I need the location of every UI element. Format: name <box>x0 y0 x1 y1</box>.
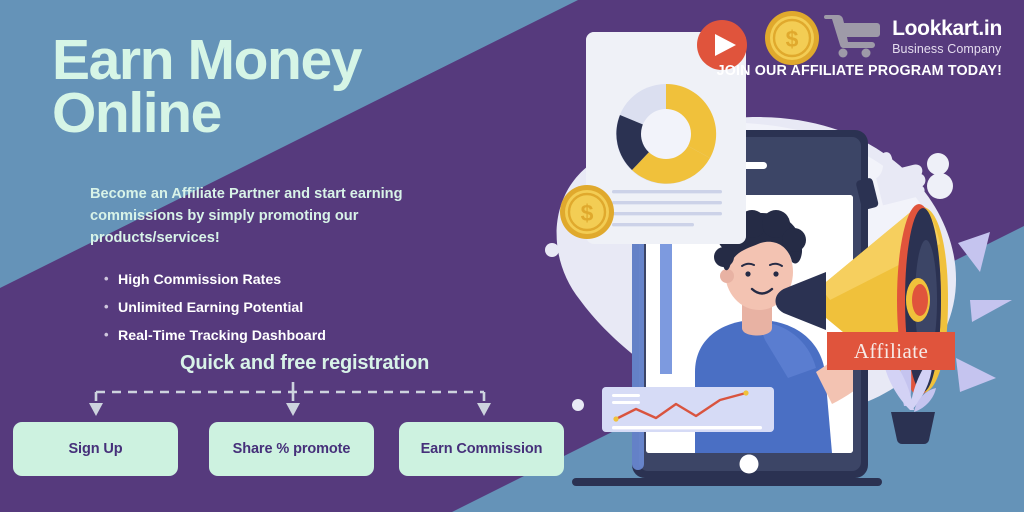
arrow-head-1 <box>89 403 103 416</box>
gold-coin-lower: $ <box>560 185 614 239</box>
svg-text:$: $ <box>581 200 594 226</box>
benefits-list: High Commission Rates Unlimited Earning … <box>104 270 326 354</box>
arrow-head-3 <box>477 403 491 416</box>
brand-tagline: Business Company <box>892 39 1002 59</box>
step-button-earn-commission[interactable]: Earn Commission <box>399 422 564 476</box>
list-item: Unlimited Earning Potential <box>104 298 326 320</box>
gold-coin-top: $ <box>765 11 819 65</box>
list-item: High Commission Rates <box>104 270 326 292</box>
step-button-share-promote[interactable]: Share % promote <box>209 422 374 476</box>
banner-canvas: $ $ Affiliate Earn M <box>0 0 1024 512</box>
affiliate-tag: Affiliate <box>827 332 955 370</box>
brand-name: Lookkart.in <box>892 18 1002 39</box>
flow-connector <box>80 380 520 425</box>
cta-heading: Quick and free registration <box>180 352 429 375</box>
decor-bubble <box>927 173 953 199</box>
decor-dot-left <box>545 243 559 257</box>
decor-dot-right <box>927 153 949 175</box>
join-banner: JOIN OUR AFFILIATE PROGRAM TODAY! <box>717 63 1002 79</box>
list-item: Real-Time Tracking Dashboard <box>104 326 326 348</box>
arrow-head-2 <box>286 403 300 416</box>
line-chart-card <box>602 387 774 432</box>
hero-subtext: Become an Affiliate Partner and start ea… <box>90 183 420 250</box>
shopping-cart-icon <box>824 10 880 58</box>
page-title: Earn Money Online <box>52 34 361 140</box>
svg-text:$: $ <box>786 26 799 52</box>
decor-dot-lower <box>572 399 584 411</box>
brand-lockup: Lookkart.in Business Company <box>824 10 1002 59</box>
step-button-sign-up[interactable]: Sign Up <box>13 422 178 476</box>
